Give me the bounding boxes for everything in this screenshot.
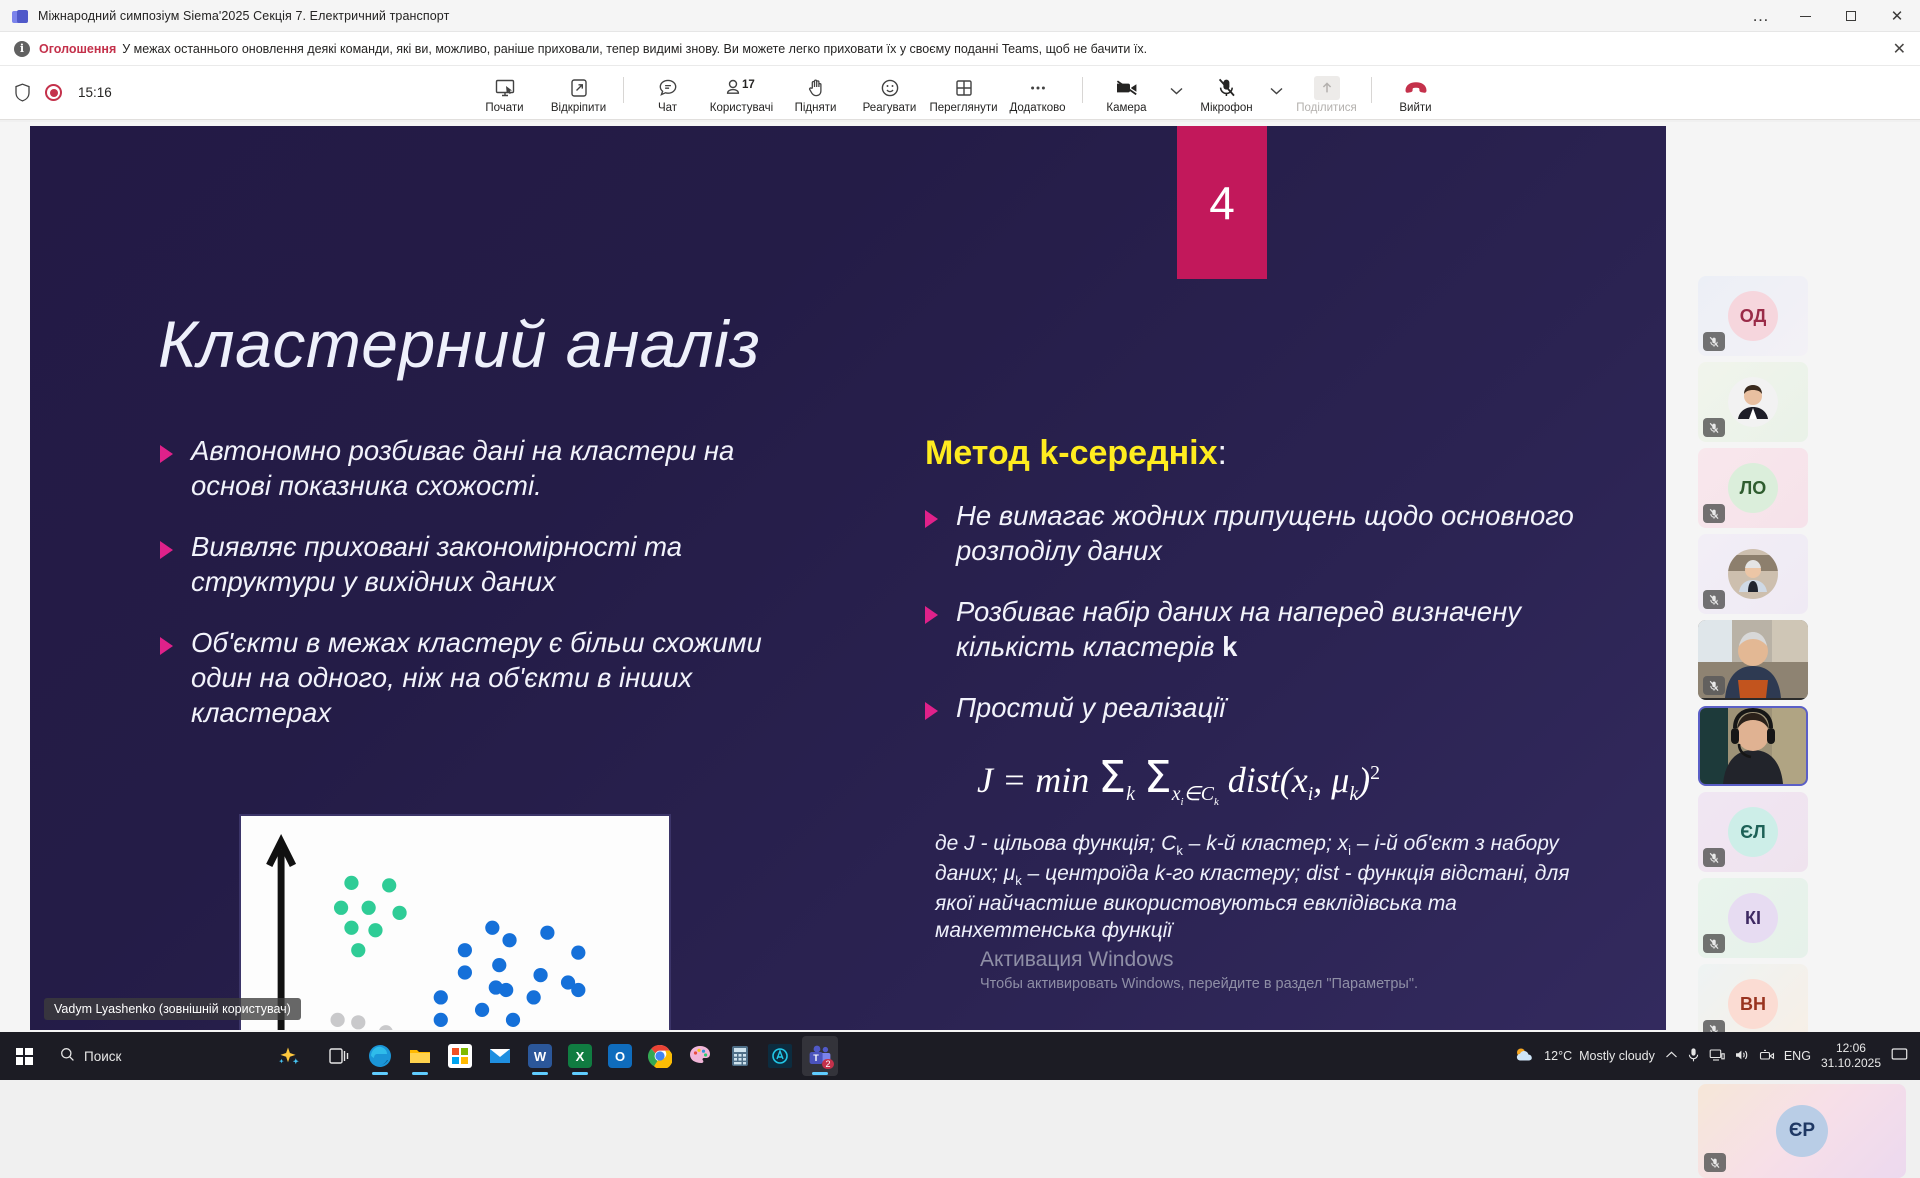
- window-title-bar: Міжнародний симпозіум Siema'2025 Секція …: [0, 0, 1920, 32]
- toolbar-present-label: Почати: [485, 102, 523, 114]
- microsoft-store-icon[interactable]: [442, 1036, 478, 1076]
- participant-video: [1728, 377, 1778, 427]
- list-item: Об'єкти в межах кластеру є більш схожими…: [160, 626, 800, 731]
- toolbar-divider-3: [1371, 77, 1372, 103]
- data-point-cluster-blue: [458, 943, 472, 957]
- toolbar-popout-label: Відкріпити: [551, 102, 606, 114]
- partly-cloudy-icon: [1513, 1046, 1537, 1067]
- method-heading-text: Метод k-середніх: [925, 434, 1218, 472]
- bullet-bold-k: k: [1222, 631, 1237, 662]
- toolbar-people-button[interactable]: 17 Користувачі: [705, 71, 779, 114]
- tray-icon-group: ENG: [1665, 1047, 1811, 1066]
- teams-icon: [12, 8, 28, 24]
- window-title: Міжнародний симпозіум Siema'2025 Секція …: [38, 9, 449, 23]
- participants-rail: ОД ЛО: [1684, 122, 1920, 1032]
- avatar: ЛО: [1728, 463, 1778, 513]
- participant-video: [1698, 706, 1808, 786]
- toolbar-microphone-button[interactable]: Мікрофон: [1190, 71, 1264, 114]
- pop-out-icon: [568, 76, 590, 100]
- task-view-icon[interactable]: [322, 1036, 358, 1076]
- bullet-text: Розбиває набір даних на наперед визначен…: [956, 595, 1605, 665]
- data-point-cluster-gray: [379, 1025, 393, 1030]
- minimize-icon[interactable]: [1782, 0, 1828, 32]
- search-placeholder: Поиск: [84, 1049, 121, 1064]
- data-point-cluster-green: [351, 943, 365, 957]
- list-item: Виявляє приховані закономірності та стру…: [160, 530, 800, 600]
- badge-count: 2: [822, 1059, 834, 1069]
- list-item: Простий у реалізації: [925, 691, 1605, 726]
- windows-start-icon[interactable]: [0, 1032, 48, 1080]
- toolbar-more-button[interactable]: Додатково: [1001, 71, 1075, 114]
- chart-axes: [269, 842, 648, 1030]
- meeting-toolbar: 15:16 Почати Відкріпити: [0, 66, 1920, 120]
- outlook-icon[interactable]: O: [602, 1036, 638, 1076]
- teams-icon[interactable]: T2: [802, 1036, 838, 1076]
- paint-icon[interactable]: [682, 1036, 718, 1076]
- toolbar-divider-2: [1082, 77, 1083, 103]
- raise-hand-icon: [805, 76, 827, 100]
- method-heading: Метод k-середніх:: [925, 434, 1605, 473]
- windows-activation-watermark: Активация Windows Чтобы активировать Win…: [980, 948, 1418, 992]
- toolbar-view-label: Переглянути: [929, 102, 997, 114]
- microphone-control-group: Мікрофон: [1190, 71, 1290, 114]
- list-item: Розбиває набір даних на наперед визначен…: [925, 595, 1605, 665]
- word-icon[interactable]: W: [522, 1036, 558, 1076]
- bullet-text: Не вимагає жодних припущень щодо основно…: [956, 499, 1605, 569]
- method-heading-colon: :: [1218, 434, 1227, 472]
- data-point-cluster-gray: [351, 1015, 365, 1029]
- banner-label: Оголошення: [39, 42, 116, 56]
- participant-tile[interactable]: [1698, 620, 1808, 700]
- avatar: КІ: [1728, 893, 1778, 943]
- mic-off-icon: [1703, 590, 1725, 609]
- outlook-icon-glyph: O: [608, 1044, 632, 1068]
- hang-up-icon: [1402, 76, 1430, 100]
- toolbar-camera-label: Камера: [1106, 102, 1146, 114]
- participant-tile[interactable]: [1698, 534, 1808, 614]
- data-point-cluster-blue: [492, 958, 506, 972]
- mic-off-icon: [1704, 1153, 1726, 1172]
- formula-explanation: де J - цільова функція; Ck – k-й кластер…: [935, 830, 1585, 945]
- toolbar-share-label: Поділитися: [1296, 102, 1356, 114]
- objective-function-formula: J = min Σk Σxi∈Ck dist(xi, μk)2: [977, 752, 1605, 808]
- chart-data-points: [317, 876, 586, 1030]
- network-icon[interactable]: [1709, 1048, 1725, 1065]
- data-point-cluster-green: [368, 923, 382, 937]
- excel-icon[interactable]: X: [562, 1036, 598, 1076]
- data-point-cluster-blue: [485, 921, 499, 935]
- word-icon-glyph: W: [528, 1044, 552, 1068]
- bullet-text: Простий у реалізації: [956, 691, 1225, 726]
- bullet-text: Об'єкти в межах кластеру є більш схожими…: [191, 626, 800, 731]
- bullet-text: Автономно розбиває дані на кластери на о…: [191, 434, 800, 504]
- bullet-triangle-icon: [925, 510, 938, 528]
- data-point-cluster-blue: [434, 1013, 448, 1027]
- data-point-cluster-blue: [571, 946, 585, 960]
- formula-sum2-sub: xi∈Ck: [1172, 783, 1219, 805]
- scatter-plot-svg: [241, 816, 669, 1030]
- camera-chevron-down-icon[interactable]: [1164, 71, 1190, 105]
- camera-control-group: Камера: [1090, 71, 1190, 114]
- data-point-cluster-gray: [331, 1013, 345, 1027]
- formula-dist: dist(x: [1228, 760, 1308, 800]
- mic-off-icon: [1703, 676, 1725, 695]
- summation-sigma-icon: Σ: [1098, 752, 1126, 803]
- mic-off-icon: [1703, 332, 1725, 351]
- clock-time: 12:06: [1821, 1041, 1881, 1056]
- camera-off-icon: [1114, 76, 1140, 100]
- data-point-cluster-green: [392, 906, 406, 920]
- slide-right-column: Метод k-середніх: Не вимагає жодних прип…: [925, 434, 1605, 945]
- bullet-triangle-icon: [160, 541, 173, 559]
- clock[interactable]: 12:06 31.10.2025: [1821, 1041, 1881, 1071]
- watermark-subtitle: Чтобы активировать Windows, перейдите в …: [980, 976, 1418, 992]
- list-item: Автономно розбиває дані на кластери на о…: [160, 434, 800, 504]
- participant-video: [1728, 549, 1778, 599]
- slide-number-badge: 4: [1177, 126, 1267, 279]
- maximize-icon[interactable]: [1828, 0, 1874, 32]
- info-icon: i: [14, 41, 30, 57]
- notification-icon[interactable]: [1891, 1047, 1908, 1065]
- data-point-cluster-blue: [571, 983, 585, 997]
- calculator-icon[interactable]: [722, 1036, 758, 1076]
- spotlight-participant-tile[interactable]: ЄР: [1698, 1084, 1906, 1178]
- data-point-cluster-green: [344, 921, 358, 935]
- record-icon[interactable]: [45, 84, 62, 101]
- autocad-icon[interactable]: [762, 1036, 798, 1076]
- share-up-icon: [1314, 76, 1340, 100]
- mic-off-icon: [1703, 934, 1725, 953]
- emoji-icon: [879, 76, 901, 100]
- toolbar-react-label: Реагувати: [863, 102, 917, 114]
- toolbar-leave-button[interactable]: Вийти: [1379, 71, 1453, 114]
- layout-grid-icon: [953, 76, 975, 100]
- watermark-title: Активация Windows: [980, 948, 1418, 972]
- titlebar-more-button[interactable]: …: [1740, 6, 1782, 26]
- toolbar-divider-1: [623, 77, 624, 103]
- avatar: ЄР: [1776, 1105, 1828, 1157]
- data-point-cluster-green: [362, 901, 376, 915]
- toolbar-leave-label: Вийти: [1399, 102, 1431, 114]
- language-indicator[interactable]: ENG: [1784, 1049, 1811, 1063]
- avatar: ВН: [1728, 979, 1778, 1029]
- toolbar-chat-button[interactable]: Чат: [631, 71, 705, 114]
- data-point-cluster-blue: [527, 990, 541, 1004]
- search-input[interactable]: Поиск: [48, 1040, 268, 1072]
- data-point-cluster-green: [344, 876, 358, 890]
- windows-taskbar: Поиск WXOT2 12°C Mostly cloudy: [0, 1032, 1920, 1080]
- data-point-cluster-blue: [540, 926, 554, 940]
- toolbar-microphone-label: Мікрофон: [1200, 102, 1252, 114]
- meeting-stage: 4 Кластерний аналіз Автономно розбиває д…: [0, 122, 1920, 1032]
- presenter-name-tag: Vadym Lyashenko (зовнішній користувач): [44, 998, 301, 1020]
- participant-tile-ЄЛ[interactable]: ЄЛ: [1698, 792, 1808, 872]
- window-controls: … ✕: [1740, 0, 1920, 32]
- svg-text:17: 17: [742, 79, 755, 91]
- toolbar-react-button[interactable]: Реагувати: [853, 71, 927, 114]
- list-item: Не вимагає жодних припущень щодо основно…: [925, 499, 1605, 569]
- shared-slide[interactable]: 4 Кластерний аналіз Автономно розбиває д…: [30, 126, 1666, 1030]
- toolbar-raise-hand-button[interactable]: Підняти: [779, 71, 853, 114]
- participant-tile-ОД[interactable]: ОД: [1698, 276, 1808, 356]
- mic-off-icon: [1703, 848, 1725, 867]
- toolbar-present-button[interactable]: Почати: [468, 71, 542, 114]
- chrome-icon[interactable]: [642, 1036, 678, 1076]
- mail-icon[interactable]: [482, 1036, 518, 1076]
- shield-icon: [14, 83, 31, 102]
- microphone-chevron-down-icon[interactable]: [1264, 71, 1290, 105]
- taskbar-app-list: WXOT2: [322, 1036, 838, 1076]
- toolbar-camera-button[interactable]: Камера: [1090, 71, 1164, 114]
- microphone-icon[interactable]: [1687, 1047, 1700, 1066]
- weather-description: Mostly cloudy: [1579, 1049, 1655, 1063]
- toolbar-view-button[interactable]: Переглянути: [927, 71, 1001, 114]
- people-icon: 17: [723, 76, 761, 100]
- chevron-up-icon[interactable]: [1665, 1049, 1678, 1063]
- toolbar-popout-button[interactable]: Відкріпити: [542, 71, 616, 114]
- toolbar-raise-hand-label: Підняти: [795, 102, 837, 114]
- close-icon[interactable]: ✕: [1874, 0, 1920, 32]
- volume-icon[interactable]: [1734, 1048, 1750, 1065]
- bullet-triangle-icon: [160, 445, 173, 463]
- excel-icon-glyph: X: [568, 1044, 592, 1068]
- banner-close-icon[interactable]: ✕: [1893, 41, 1906, 57]
- file-explorer-icon[interactable]: [402, 1036, 438, 1076]
- avatar: ОД: [1728, 291, 1778, 341]
- toolbar-share-button[interactable]: Поділитися: [1290, 71, 1364, 114]
- data-point-cluster-blue: [506, 1013, 520, 1027]
- weather-temp: 12°C: [1544, 1049, 1572, 1063]
- data-point-cluster-blue: [533, 968, 547, 982]
- slide-left-column: Автономно розбиває дані на кластери на о…: [160, 434, 800, 756]
- camera-privacy-icon[interactable]: [1759, 1048, 1775, 1065]
- slide-number: 4: [1209, 176, 1235, 230]
- edge-icon[interactable]: [362, 1036, 398, 1076]
- toolbar-people-label: Користувачі: [710, 102, 773, 114]
- participant-grid: ОД ЛО: [1684, 276, 1920, 1044]
- search-icon: [60, 1047, 75, 1065]
- data-point-cluster-green: [382, 878, 396, 892]
- more-horizontal-icon: [1027, 76, 1049, 100]
- weather-widget[interactable]: 12°C Mostly cloudy: [1513, 1046, 1655, 1067]
- data-point-cluster-blue: [499, 983, 513, 997]
- participant-tile[interactable]: [1698, 706, 1808, 786]
- chat-icon: [657, 76, 679, 100]
- data-point-cluster-blue: [502, 933, 516, 947]
- data-point-cluster-blue: [458, 965, 472, 979]
- mic-off-icon: [1215, 76, 1239, 100]
- mic-off-icon: [1703, 504, 1725, 523]
- present-screen-icon: [494, 76, 516, 100]
- data-point-cluster-blue: [475, 1003, 489, 1017]
- clock-date: 31.10.2025: [1821, 1056, 1881, 1071]
- toolbar-center-group: Почати Відкріпити Чат: [0, 71, 1920, 114]
- bullet-text: Виявляє приховані закономірності та стру…: [191, 530, 800, 600]
- banner-message: У межах останнього оновлення деякі коман…: [122, 42, 1147, 56]
- system-tray: 12°C Mostly cloudy: [1513, 1041, 1920, 1071]
- meeting-timer: 15:16: [78, 85, 112, 100]
- bullet-triangle-icon: [925, 702, 938, 720]
- bullet-triangle-icon: [160, 637, 173, 655]
- toolbar-more-label: Додатково: [1009, 102, 1065, 114]
- participant-tile-КІ[interactable]: КІ: [1698, 878, 1808, 958]
- copilot-sparkle-icon[interactable]: [268, 1045, 308, 1067]
- participant-tile-ЛО[interactable]: ЛО: [1698, 448, 1808, 528]
- summation-sigma-icon: Σ: [1144, 752, 1172, 803]
- toolbar-chat-label: Чат: [658, 102, 677, 114]
- cluster-scatter-chart: [239, 814, 671, 1030]
- data-point-cluster-green: [334, 901, 348, 915]
- toolbar-left-group: 15:16: [0, 83, 112, 102]
- mic-off-icon: [1703, 418, 1725, 437]
- participant-tile[interactable]: [1698, 362, 1808, 442]
- avatar: ЄЛ: [1728, 807, 1778, 857]
- svg-text:T: T: [813, 1053, 819, 1063]
- formula-lhs: J = min: [977, 760, 1089, 800]
- data-point-cluster-blue: [434, 990, 448, 1004]
- bullet-triangle-icon: [925, 606, 938, 624]
- page-title: Кластерний аналіз: [158, 306, 760, 382]
- announcement-banner: i Оголошення У межах останнього оновленн…: [0, 32, 1920, 66]
- formula-sum1-sub: k: [1126, 783, 1135, 805]
